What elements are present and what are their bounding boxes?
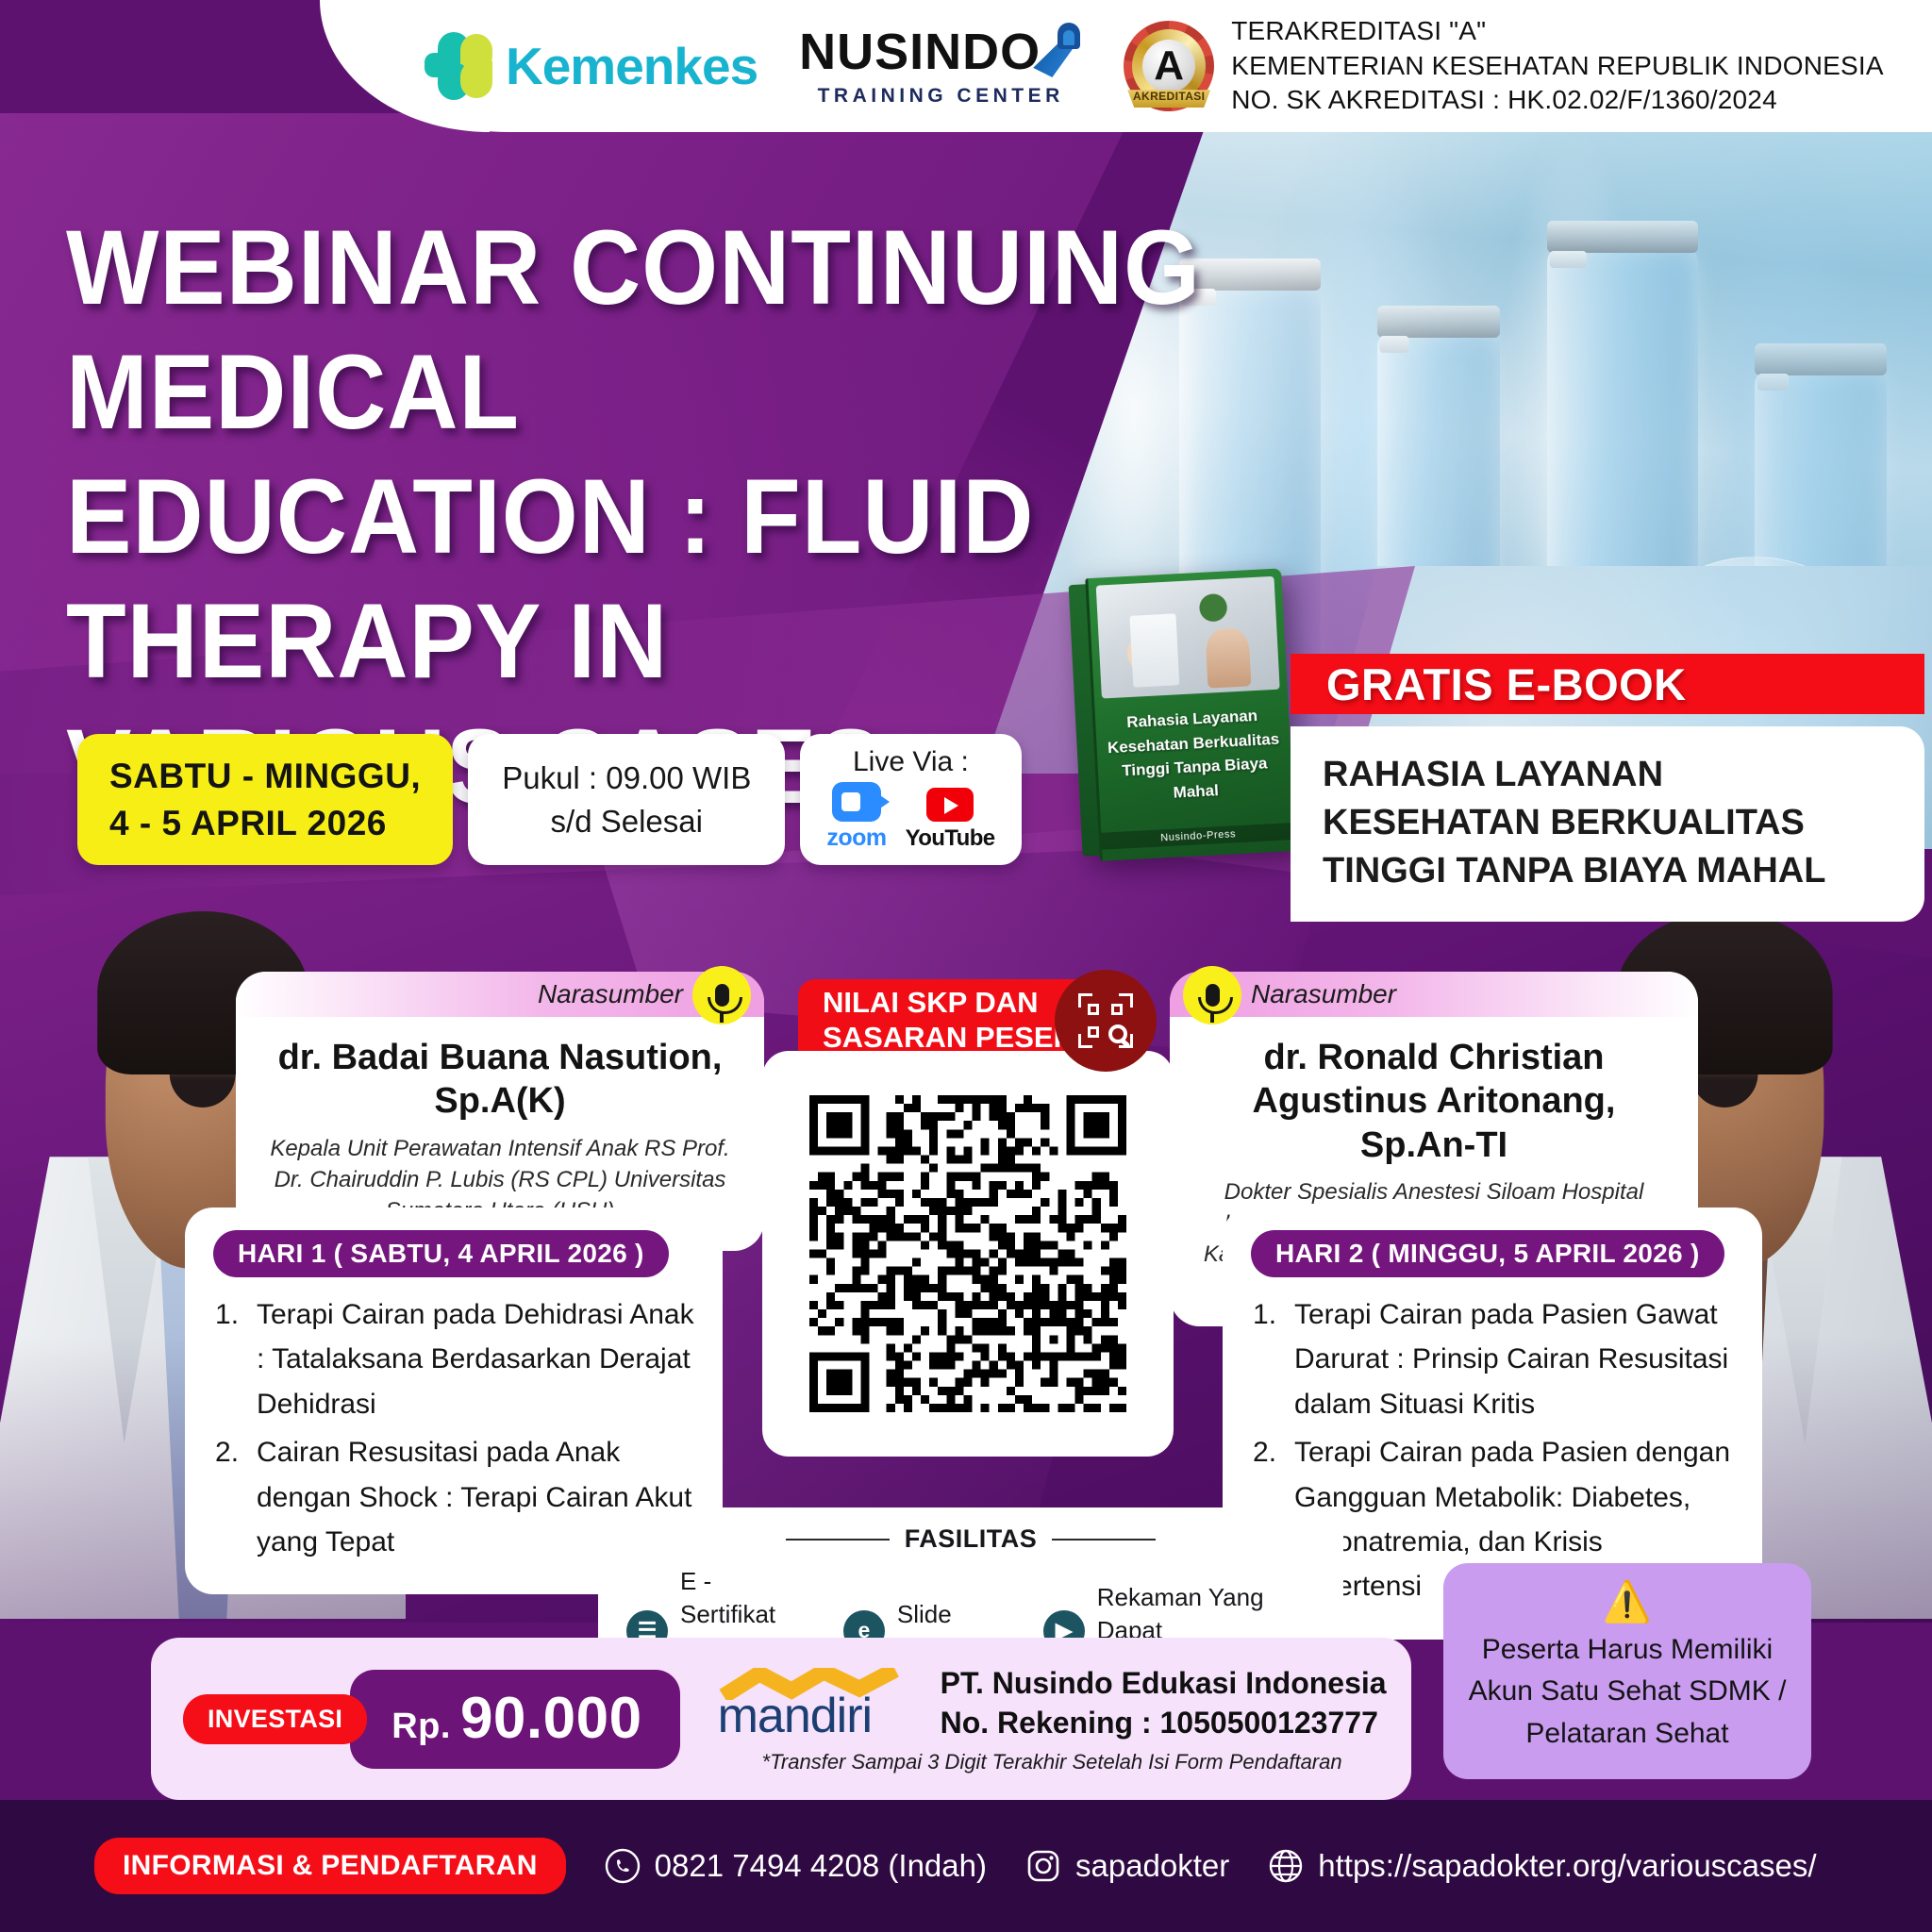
account-number: No. Rekening : 1050500123777 bbox=[941, 1703, 1387, 1742]
contact-footer: INFORMASI & PENDAFTARAN 0821 7494 4208 (… bbox=[0, 1800, 1932, 1932]
youtube-platform: YouTube bbox=[906, 788, 995, 852]
ebook-cover-publisher: Nusindo-Press bbox=[1101, 823, 1295, 850]
nusindo-label: NUSINDO bbox=[799, 28, 1041, 76]
speaker-2-badge: Narasumber bbox=[1170, 972, 1698, 1017]
divider bbox=[786, 1539, 890, 1541]
event-date-box: SABTU - MINGGU, 4 - 5 APRIL 2026 bbox=[77, 734, 453, 865]
accreditation-badge-icon: A AKREDITASI bbox=[1124, 21, 1214, 111]
mandiri-wave-icon bbox=[718, 1668, 916, 1700]
requirement-line-3: Pelataran Sehat bbox=[1466, 1713, 1789, 1755]
speaker-2-badge-label: Narasumber bbox=[1251, 979, 1396, 1009]
whatsapp-number: 0821 7494 4208 (Indah) bbox=[655, 1848, 987, 1884]
ebook-cover-title: Rahasia Layanan Kesehatan Berkualitas Ti… bbox=[1105, 703, 1284, 808]
schedule-day-2-item: Terapi Cairan pada Pasien Gawat Darurat … bbox=[1251, 1292, 1734, 1426]
qr-scan-icon bbox=[1078, 993, 1133, 1048]
speaker-1-badge: Narasumber bbox=[236, 972, 764, 1017]
ebook-cover-image: Rahasia Layanan Kesehatan Berkualitas Ti… bbox=[1068, 568, 1299, 862]
ebook-title-line-2: KESEHATAN BERKUALITAS bbox=[1323, 799, 1892, 847]
globe-icon bbox=[1267, 1847, 1305, 1885]
requirement-notice: ⚠️ Peserta Harus Memiliki Akun Satu Seha… bbox=[1443, 1563, 1811, 1779]
live-via-label: Live Via : bbox=[853, 746, 969, 778]
facilities-heading: FASILITAS bbox=[905, 1524, 1038, 1554]
ebook-banner-label: GRATIS E-BOOK bbox=[1326, 658, 1687, 710]
accreditation-line-3: NO. SK AKREDITASI : HK.02.02/F/1360/2024 bbox=[1231, 83, 1884, 118]
bank-transfer-block: mandiri PT. Nusindo Edukasi Indonesia No… bbox=[718, 1663, 1387, 1774]
qr-code-image[interactable] bbox=[809, 1095, 1126, 1412]
youtube-play-icon bbox=[926, 788, 974, 822]
instagram-contact[interactable]: sapadokter bbox=[1024, 1847, 1229, 1885]
schedule-day-2-pill: HARI 2 ( MINGGU, 5 APRIL 2026 ) bbox=[1251, 1230, 1724, 1277]
title-line-2: EDUCATION : FLUID THERAPY IN bbox=[66, 455, 1233, 704]
requirement-line-2: Akun Satu Sehat SDMK / bbox=[1466, 1671, 1789, 1712]
speaker-1-name: dr. Badai Buana Nasution, Sp.A(K) bbox=[236, 1017, 764, 1133]
whatsapp-contact[interactable]: 0821 7494 4208 (Indah) bbox=[604, 1847, 987, 1885]
website-url: https://sapadokter.org/variouscases/ bbox=[1318, 1848, 1816, 1884]
divider bbox=[1052, 1539, 1156, 1541]
zoom-camera-icon bbox=[832, 782, 881, 822]
price-box: Rp. 90.000 bbox=[350, 1670, 679, 1769]
price-amount: 90.000 bbox=[460, 1685, 642, 1752]
event-date-line-2: 4 - 5 APRIL 2026 bbox=[109, 800, 421, 847]
kemenkes-logo: Kemenkes bbox=[425, 32, 758, 100]
poster-root: Kemenkes NUSINDO TRAINING CENTER A AKRED… bbox=[0, 0, 1932, 1932]
instagram-handle: sapadokter bbox=[1075, 1848, 1229, 1884]
transfer-note: *Transfer Sampai 3 Digit Terakhir Setela… bbox=[762, 1750, 1342, 1774]
youtube-label: YouTube bbox=[906, 825, 995, 852]
nusindo-swoosh-icon bbox=[1027, 28, 1082, 83]
instagram-icon bbox=[1024, 1847, 1062, 1885]
event-time-line-2: s/d Selesai bbox=[551, 800, 703, 843]
payment-bar: INVESTASI Rp. 90.000 mandiri PT. Nusindo… bbox=[151, 1638, 1411, 1800]
event-time-line-1: Pukul : 09.00 WIB bbox=[502, 757, 751, 800]
ebook-title-line-1: RAHASIA LAYANAN bbox=[1323, 751, 1892, 799]
nusindo-logo: NUSINDO TRAINING CENTER bbox=[799, 25, 1082, 108]
schedule-day-1-item: Terapi Cairan pada Dehidrasi Anak : Tata… bbox=[213, 1292, 694, 1426]
accreditation-grade: A bbox=[1142, 40, 1195, 92]
speaker-2-name: dr. Ronald Christian Agustinus Aritonang… bbox=[1170, 1017, 1698, 1176]
speaker-1-badge-label: Narasumber bbox=[538, 979, 683, 1009]
account-holder: PT. Nusindo Edukasi Indonesia bbox=[941, 1663, 1387, 1703]
kemenkes-label: Kemenkes bbox=[506, 36, 758, 96]
schedule-day-1-pill: HARI 1 ( SABTU, 4 APRIL 2026 ) bbox=[213, 1230, 669, 1277]
info-registration-badge: INFORMASI & PENDAFTARAN bbox=[94, 1838, 566, 1894]
facility-label: E - Sertifikat bbox=[680, 1565, 813, 1631]
accreditation-line-1: TERAKREDITASI "A" bbox=[1231, 14, 1884, 49]
qr-code-card[interactable] bbox=[762, 1051, 1174, 1457]
microphone-icon bbox=[1183, 966, 1241, 1024]
accreditation-line-2: KEMENTERIAN KESEHATAN REPUBLIK INDONESIA bbox=[1231, 49, 1884, 84]
whatsapp-icon bbox=[604, 1847, 641, 1885]
mandiri-label: mandiri bbox=[718, 1694, 916, 1739]
microphone-icon bbox=[692, 966, 751, 1024]
title-line-1: WEBINAR CONTINUING MEDICAL bbox=[66, 206, 1233, 455]
mandiri-logo: mandiri bbox=[718, 1668, 916, 1739]
warning-triangle-icon: ⚠️ bbox=[1466, 1582, 1789, 1622]
investment-badge: INVESTASI bbox=[183, 1694, 367, 1744]
ebook-title-card: RAHASIA LAYANAN KESEHATAN BERKUALITAS TI… bbox=[1291, 726, 1924, 922]
kemenkes-flower-icon bbox=[425, 32, 492, 100]
event-info-row: SABTU - MINGGU, 4 - 5 APRIL 2026 Pukul :… bbox=[77, 734, 1022, 865]
ebook-banner: GRATIS E-BOOK bbox=[1291, 654, 1924, 714]
qr-scan-badge bbox=[1055, 970, 1157, 1072]
ebook-title-line-3: TINGGI TANPA BIAYA MAHAL bbox=[1323, 847, 1892, 895]
live-via-box: Live Via : zoom YouTube bbox=[800, 734, 1021, 865]
event-time-box: Pukul : 09.00 WIB s/d Selesai bbox=[468, 734, 785, 865]
event-date-line-1: SABTU - MINGGU, bbox=[109, 753, 421, 800]
nusindo-sublabel: TRAINING CENTER bbox=[799, 85, 1082, 108]
zoom-platform: zoom bbox=[826, 782, 886, 852]
facility-label: Slide bbox=[897, 1598, 1013, 1631]
website-contact[interactable]: https://sapadokter.org/variouscases/ bbox=[1267, 1847, 1816, 1885]
currency-label: Rp. bbox=[391, 1707, 451, 1747]
zoom-label: zoom bbox=[826, 824, 886, 852]
requirement-line-1: Peserta Harus Memiliki bbox=[1466, 1629, 1789, 1671]
accreditation-block: A AKREDITASI TERAKREDITASI "A" KEMENTERI… bbox=[1124, 14, 1884, 119]
poster-header: Kemenkes NUSINDO TRAINING CENTER A AKRED… bbox=[321, 0, 1932, 132]
